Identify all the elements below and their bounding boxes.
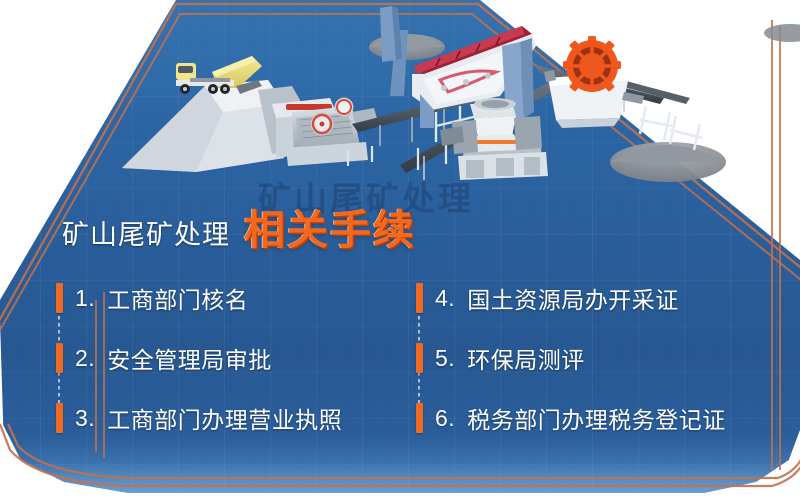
list-item-label: 环保局测评: [467, 341, 585, 375]
list-item-number: 2.: [75, 345, 95, 372]
list-item-label: 工商部门核名: [107, 281, 248, 315]
list-item[interactable]: 1. 工商部门核名: [56, 268, 400, 328]
list-item-number: 4.: [435, 285, 455, 312]
bullet-bar-icon: [416, 403, 423, 433]
list-item[interactable]: 2. 安全管理局审批: [56, 328, 400, 388]
bullet-bar-icon: [56, 283, 63, 313]
title-main: 相关手续: [244, 196, 416, 256]
support-pillar-icon: [380, 6, 402, 62]
list-item[interactable]: 5. 环保局测评: [416, 328, 800, 388]
list-item[interactable]: 6. 税务部门办理税务登记证: [416, 388, 800, 448]
list-item-number: 6.: [435, 405, 455, 432]
list-item[interactable]: 4. 国土资源局办开采证: [416, 268, 800, 328]
procedure-column-left: 1. 工商部门核名 2. 安全管理局审批 3. 工商部门办理营业执照: [0, 268, 400, 453]
list-item-label: 安全管理局审批: [107, 341, 272, 375]
list-item-number: 1.: [75, 285, 95, 312]
list-item-label: 税务部门办理税务登记证: [467, 401, 726, 435]
mining-equipment-scene: [0, 0, 800, 195]
bullet-bar-icon: [56, 403, 63, 433]
bullet-bar-icon: [56, 343, 63, 373]
list-item-number: 5.: [435, 345, 455, 372]
banner-stage: 矿山尾矿处理 矿山尾矿处理 相关手续 1. 工商部门核名 2. 安全管理局审批 …: [0, 0, 800, 500]
title-prefix: 矿山尾矿处理: [62, 213, 230, 252]
list-item-label: 国土资源局办开采证: [467, 281, 679, 315]
list-item-label: 工商部门办理营业执照: [107, 401, 342, 435]
page-title: 矿山尾矿处理 相关手续: [62, 196, 416, 256]
bullet-bar-icon: [416, 283, 423, 313]
procedure-column-right: 4. 国土资源局办开采证 5. 环保局测评 6. 税务部门办理税务登记证: [400, 268, 800, 453]
list-item[interactable]: 3. 工商部门办理营业执照: [56, 388, 400, 448]
procedure-list: 1. 工商部门核名 2. 安全管理局审批 3. 工商部门办理营业执照 4. 国土…: [0, 268, 800, 453]
bullet-bar-icon: [416, 343, 423, 373]
list-item-number: 3.: [75, 405, 95, 432]
